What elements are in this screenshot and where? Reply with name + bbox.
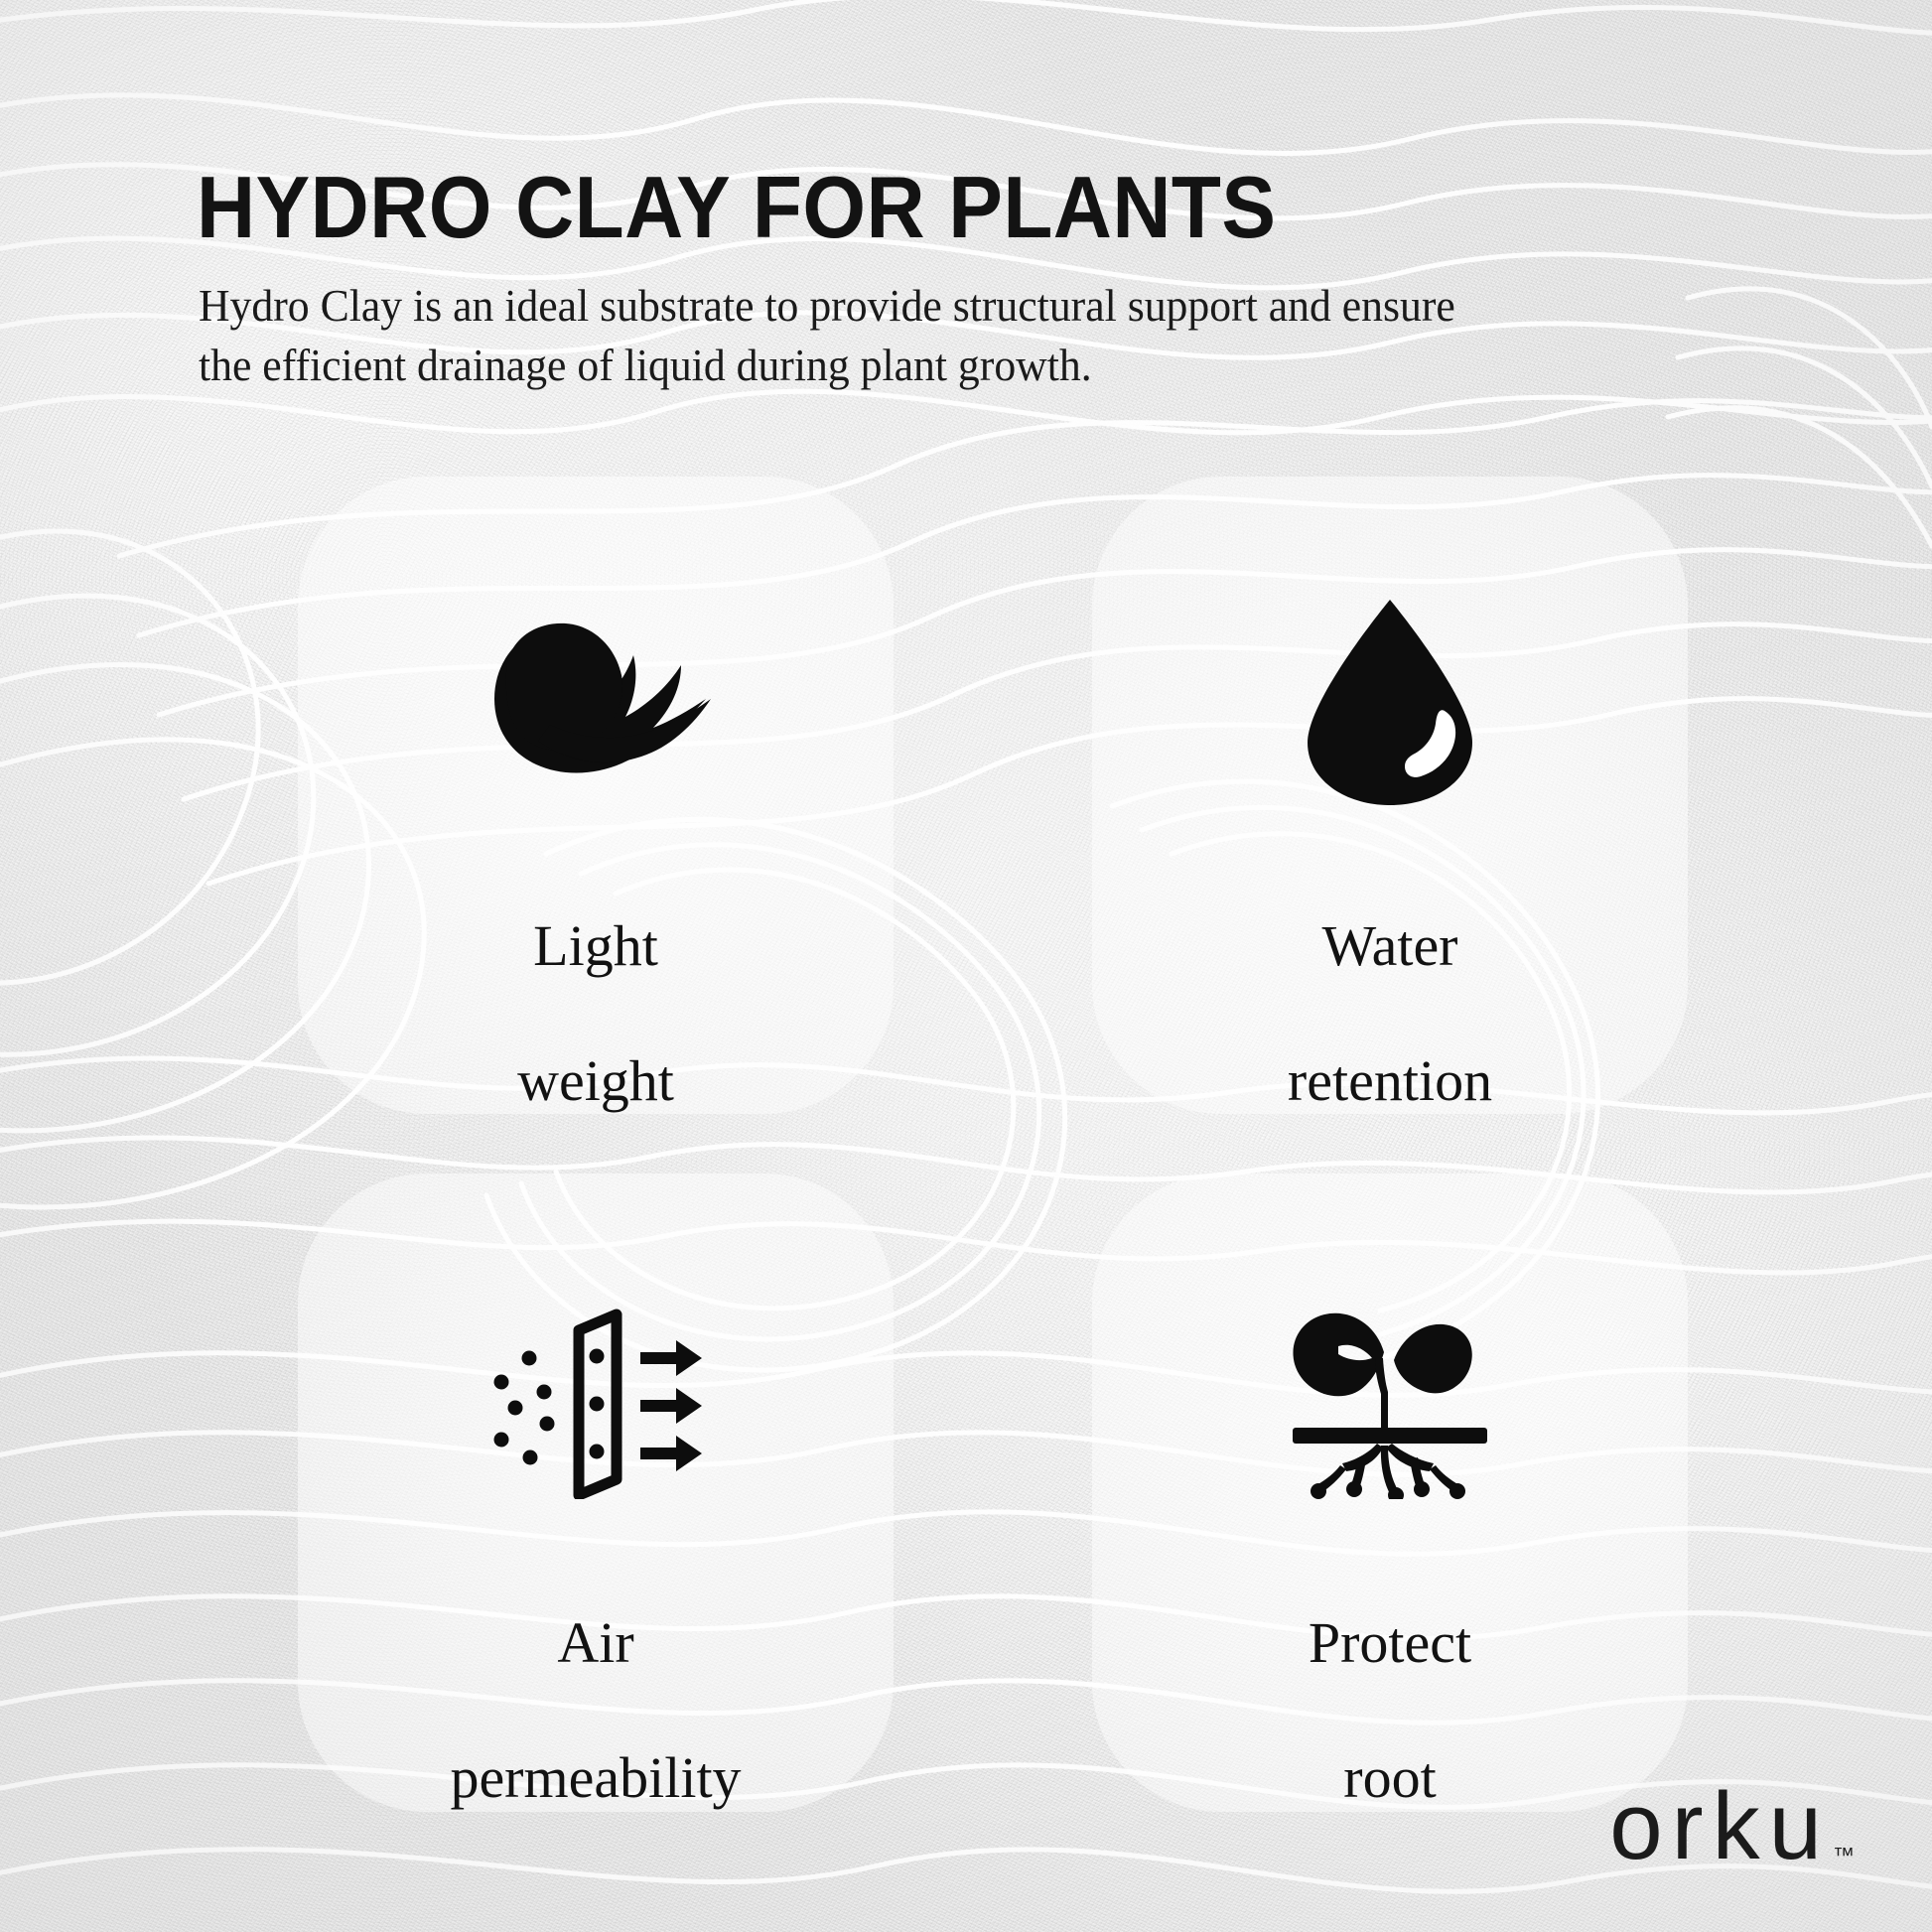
feature-card-water-retention[interactable]: Water retention bbox=[1092, 477, 1688, 1114]
feature-card-light-weight[interactable]: Light weight bbox=[298, 477, 894, 1114]
trademark-symbol: ™ bbox=[1833, 1843, 1855, 1868]
feature-label-line-2: retention bbox=[1288, 1048, 1492, 1113]
seedling-root-icon bbox=[1271, 1293, 1509, 1506]
poster-content: HYDRO CLAY FOR PLANTS Hydro Clay is an i… bbox=[0, 0, 1932, 1932]
feature-card-label: Protect root bbox=[1309, 1542, 1471, 1811]
feature-card-label: Water retention bbox=[1288, 845, 1492, 1114]
feature-label-line-2: weight bbox=[517, 1048, 674, 1113]
feature-label-line-2: root bbox=[1343, 1745, 1436, 1810]
feature-label-line-2: permeability bbox=[450, 1745, 741, 1810]
subtitle-line-1: Hydro Clay is an ideal substrate to prov… bbox=[199, 280, 1455, 331]
feature-label-line-1: Protect bbox=[1309, 1610, 1471, 1675]
page-title: HYDRO CLAY FOR PLANTS bbox=[197, 164, 1276, 251]
air-permeability-icon bbox=[477, 1293, 715, 1506]
feature-card-protect-root[interactable]: Protect root bbox=[1092, 1173, 1688, 1811]
brand-name: orku bbox=[1609, 1779, 1831, 1874]
feature-label-line-1: Light bbox=[533, 913, 658, 978]
subtitle-line-2: the efficient drainage of liquid during … bbox=[199, 336, 1670, 395]
feature-label-line-1: Water bbox=[1321, 913, 1457, 978]
feature-card-air-permeability[interactable]: Air permeability bbox=[298, 1173, 894, 1811]
feature-label-line-1: Air bbox=[557, 1610, 633, 1675]
feature-card-label: Light weight bbox=[517, 845, 674, 1114]
water-drop-icon bbox=[1271, 596, 1509, 809]
feather-icon bbox=[477, 596, 715, 809]
feature-card-label: Air permeability bbox=[450, 1542, 741, 1811]
brand-logo: orku ™ bbox=[1609, 1779, 1855, 1874]
feature-grid: Light weight Water retention bbox=[298, 477, 1688, 1648]
poster-canvas: HYDRO CLAY FOR PLANTS Hydro Clay is an i… bbox=[0, 0, 1932, 1932]
page-subtitle: Hydro Clay is an ideal substrate to prov… bbox=[199, 276, 1670, 395]
